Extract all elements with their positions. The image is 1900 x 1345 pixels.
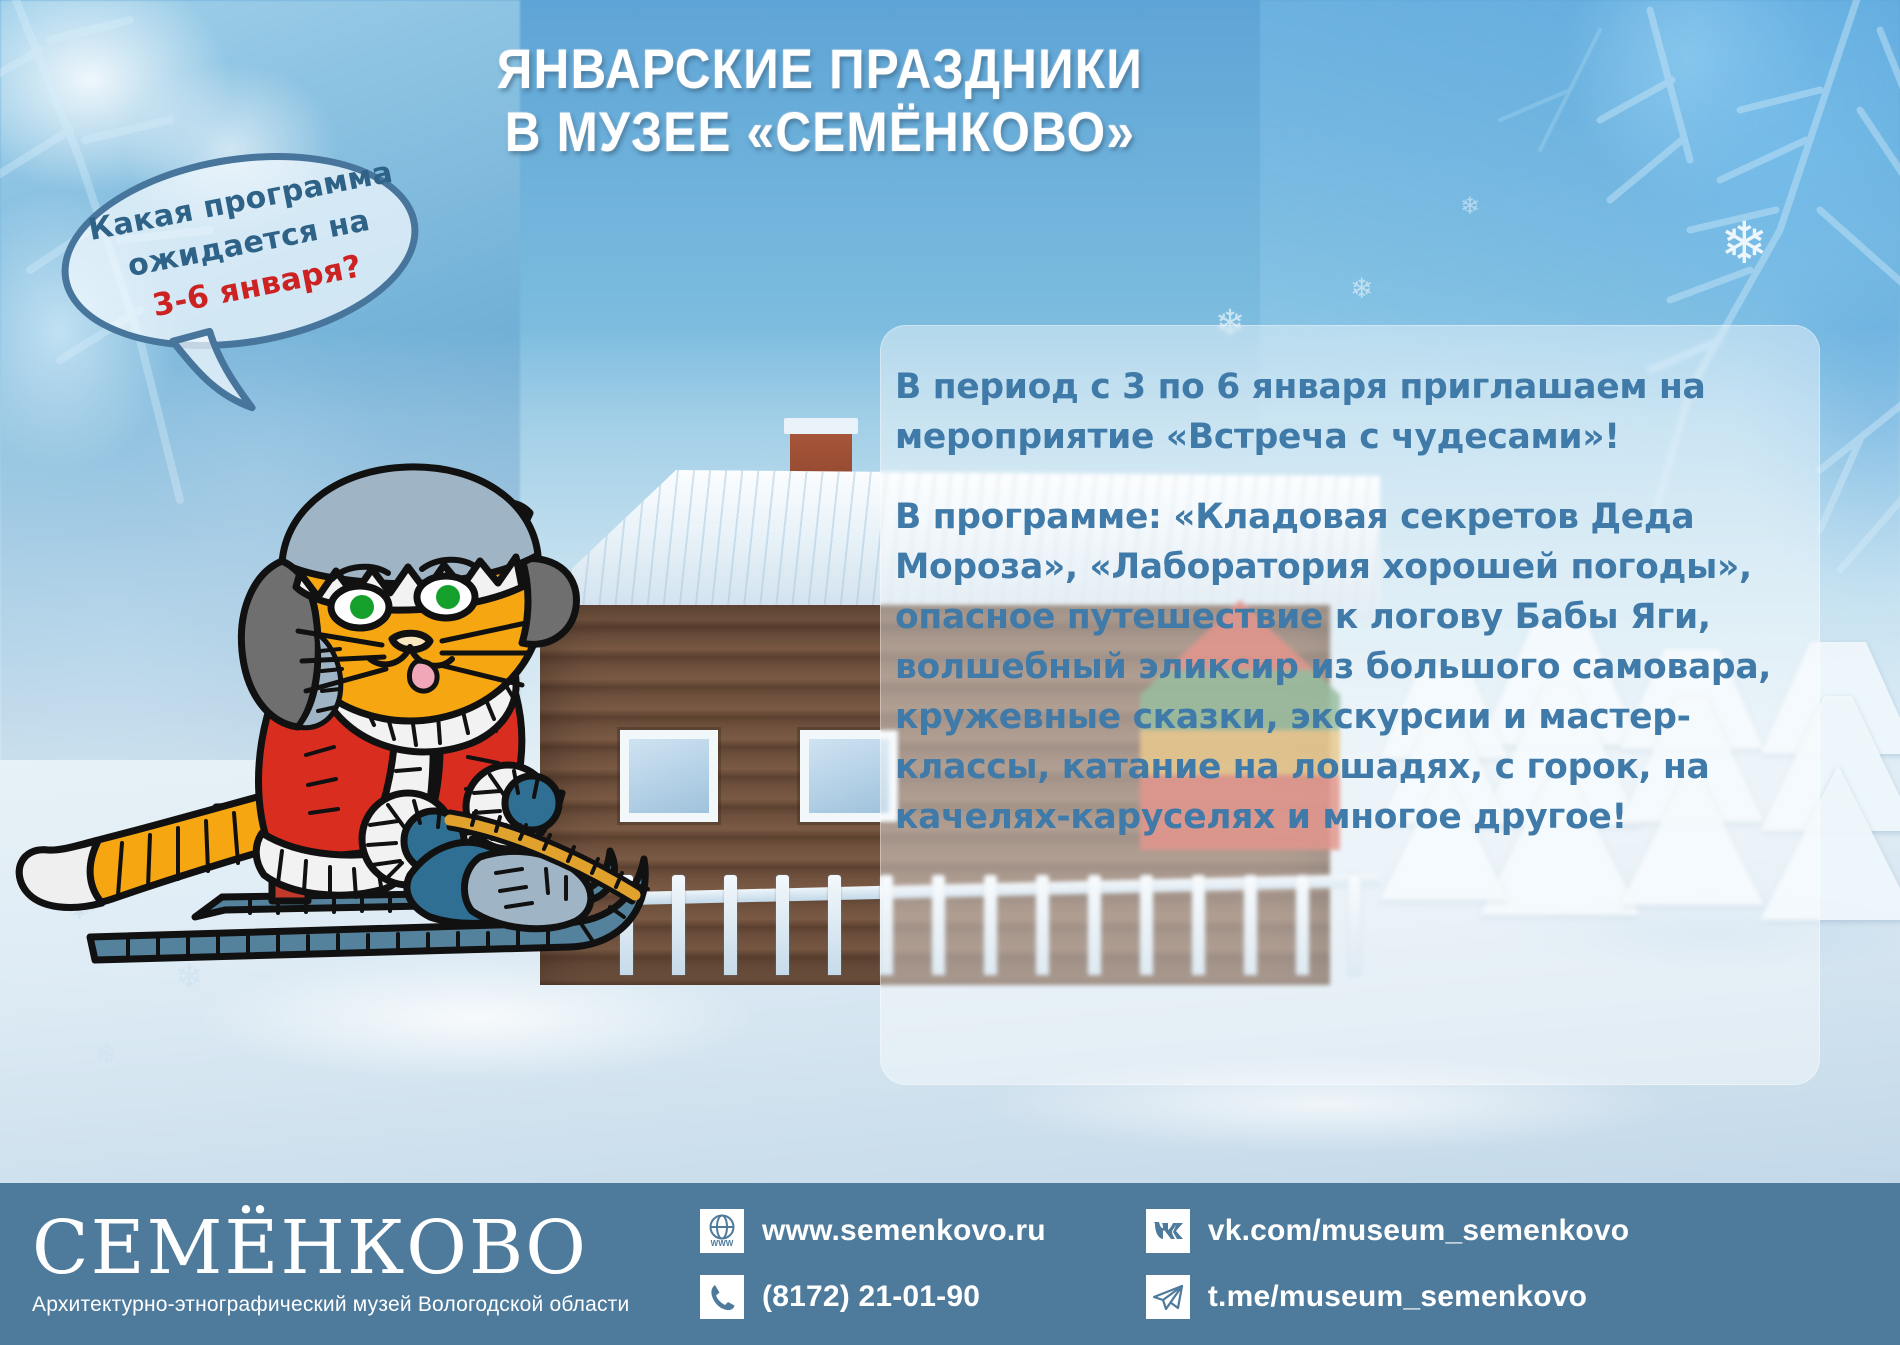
contacts-column-right: vk.com/museum_semenkovo t.me/museum_seme… — [1146, 1209, 1629, 1319]
snowflake-icon: ❄ — [1460, 195, 1480, 219]
contact-phone-label: (8172) 21-01-90 — [762, 1280, 980, 1314]
phone-icon — [700, 1275, 744, 1319]
title-line-2: В МУЗЕЕ «СЕМЁНКОВО» — [477, 101, 1163, 164]
speech-bubble: Какая программа ожидается на 3-6 января? — [18, 128, 448, 418]
contact-website[interactable]: WWW www.semenkovo.ru — [700, 1209, 1046, 1253]
contact-vk-label: vk.com/museum_semenkovo — [1208, 1214, 1629, 1248]
footer-contacts: WWW www.semenkovo.ru (8172) 21-01-90 — [700, 1209, 1629, 1319]
poster-root: ❄ ❄ ❄ ❄ ❄ ❄ ❄ ЯНВАРСКИЕ ПРАЗДНИКИ В МУЗЕ… — [0, 0, 1900, 1345]
contact-phone[interactable]: (8172) 21-01-90 — [700, 1275, 1046, 1319]
logo-tagline: Архитектурно-этнографический музей Волог… — [32, 1293, 700, 1317]
snowflake-icon: ❄ — [95, 1040, 118, 1068]
snowflake-icon: ❄ — [1350, 275, 1373, 303]
globe-www-icon: WWW — [700, 1209, 744, 1253]
logo-wordmark: СЕМЁНКОВО — [32, 1211, 700, 1285]
contact-vk[interactable]: vk.com/museum_semenkovo — [1146, 1209, 1629, 1253]
contact-telegram[interactable]: t.me/museum_semenkovo — [1146, 1275, 1629, 1319]
contact-telegram-label: t.me/museum_semenkovo — [1208, 1280, 1587, 1314]
museum-logo: СЕМЁНКОВО Архитектурно-этнографический м… — [0, 1211, 700, 1317]
info-paragraph-2: В программе: «Кладовая секретов Деда Мор… — [895, 492, 1800, 842]
telegram-icon — [1146, 1275, 1190, 1319]
cat-on-sled-illustration — [10, 455, 710, 995]
snowflake-icon: ❄ — [1720, 215, 1769, 273]
footer-bar: СЕМЁНКОВО Архитектурно-этнографический м… — [0, 1183, 1900, 1345]
title-line-1: ЯНВАРСКИЕ ПРАЗДНИКИ — [497, 37, 1143, 100]
info-panel-text: В период с 3 по 6 января приглашаем на м… — [895, 362, 1800, 842]
info-paragraph-1: В период с 3 по 6 января приглашаем на м… — [895, 362, 1800, 462]
speech-bubble-tail — [161, 314, 294, 427]
svg-text:WWW: WWW — [711, 1239, 734, 1248]
contacts-column-left: WWW www.semenkovo.ru (8172) 21-01-90 — [700, 1209, 1046, 1319]
contact-website-label: www.semenkovo.ru — [762, 1214, 1046, 1248]
poster-title: ЯНВАРСКИЕ ПРАЗДНИКИ В МУЗЕЕ «СЕМЁНКОВО» — [477, 38, 1163, 163]
vk-icon — [1146, 1209, 1190, 1253]
